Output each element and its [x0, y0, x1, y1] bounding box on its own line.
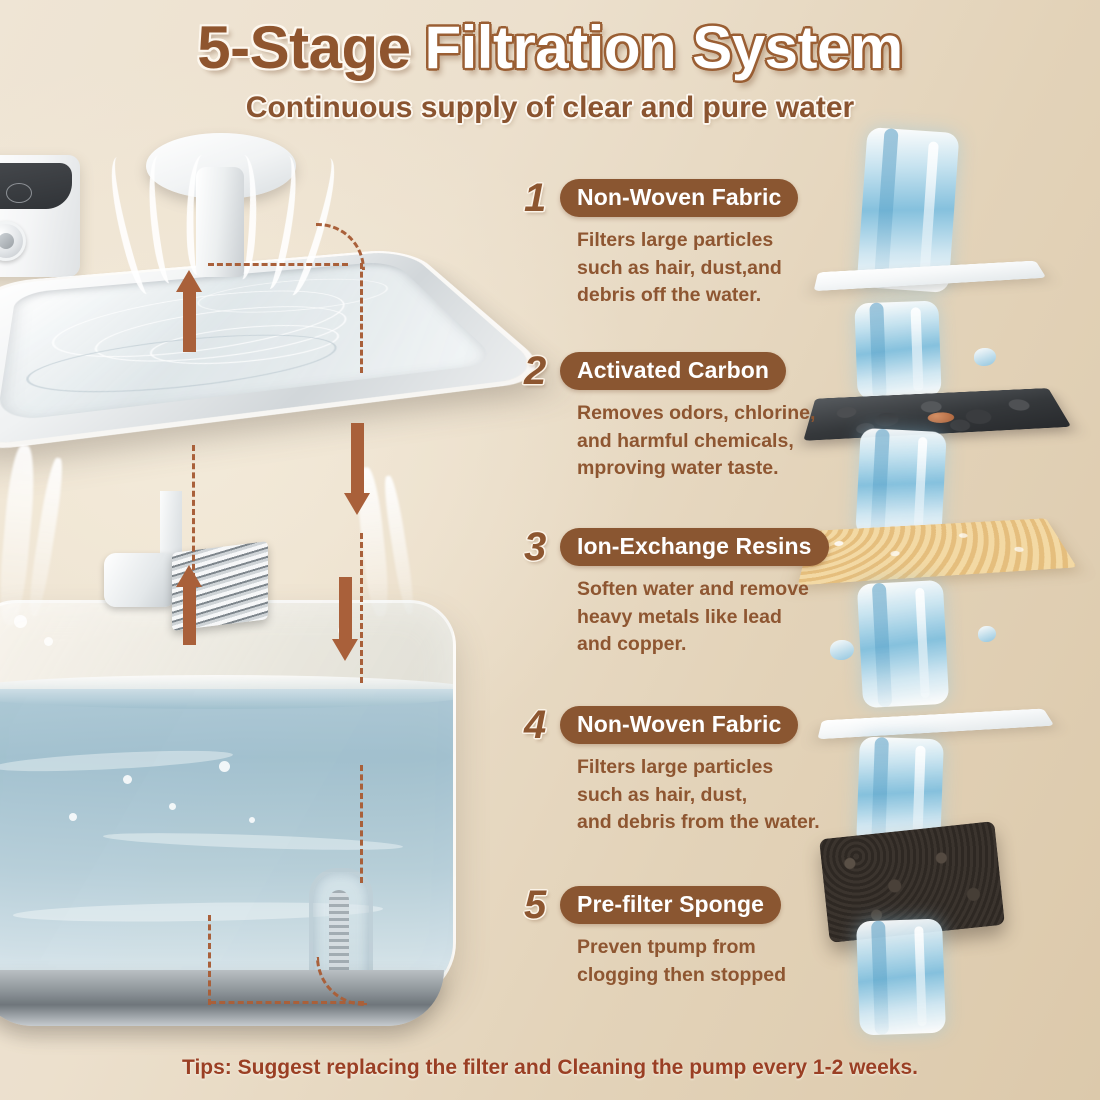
step-2-description: Removes odors, chlorine, and harmful che… [577, 400, 854, 483]
step-5-header: 5 Pre-filter Sponge [524, 885, 854, 925]
pump-motor [104, 553, 176, 607]
header: 5-StageFiltration System Continuous supp… [0, 16, 1100, 125]
step-1-line-1: Filters large particles [577, 227, 854, 255]
lower-water-tank [0, 600, 450, 1020]
arrow-head-icon [344, 493, 370, 515]
step-1-line-2: such as hair, dust,and [577, 255, 854, 283]
arrow-head-icon [332, 639, 358, 661]
step-2-number: 2 [524, 351, 560, 391]
control-module [0, 155, 80, 277]
step-4-line-2: such as hair, dust, [577, 782, 854, 810]
step-1-header: 1 Non-Woven Fabric [524, 178, 854, 218]
carbon-pellet [927, 412, 955, 424]
circulation-path-segment [210, 1001, 364, 1004]
arrow-head-icon [176, 270, 202, 292]
arrow-shaft [351, 423, 364, 493]
step-1[interactable]: 1 Non-Woven Fabric Filters large particl… [524, 178, 854, 310]
step-1-description: Filters large particles such as hair, du… [577, 227, 854, 310]
water-bubble [249, 817, 255, 823]
step-3[interactable]: 3 Ion-Exchange Resins Soften water and r… [524, 527, 854, 659]
title-part-filtration: Filtration System [424, 14, 902, 81]
water-stream [857, 580, 949, 708]
page-subtitle: Continuous supply of clear and pure wate… [0, 91, 1100, 125]
water-droplet [978, 626, 996, 642]
footer-tips: Tips: Suggest replacing the filter and C… [0, 1056, 1100, 1080]
water-stream [856, 919, 946, 1036]
step-5-description: Preven tpump from clogging then stopped [577, 934, 854, 989]
water-splash [14, 615, 27, 628]
step-4-line-1: Filters large particles [577, 754, 854, 782]
page-title: 5-StageFiltration System [0, 16, 1100, 79]
step-4-description: Filters large particles such as hair, du… [577, 754, 854, 837]
water-droplet [974, 348, 996, 366]
circulation-path-corner [316, 223, 365, 270]
step-2-header: 2 Activated Carbon [524, 351, 854, 391]
step-1-label-badge: Non-Woven Fabric [560, 179, 798, 217]
step-2-line-3: mproving water taste. [577, 455, 854, 483]
water-bubble [123, 775, 132, 784]
arrow-shaft [339, 577, 352, 639]
water-bubble [219, 761, 230, 772]
step-3-line-2: heavy metals like lead [577, 604, 854, 632]
tank-water-surface [0, 675, 456, 709]
water-bubble [69, 813, 77, 821]
product-illustration [0, 145, 526, 1045]
step-1-line-3: debris off the water. [577, 282, 854, 310]
step-4[interactable]: 4 Non-Woven Fabric Filters large particl… [524, 705, 854, 837]
circulation-path-segment [192, 445, 195, 643]
step-4-line-3: and debris from the water. [577, 809, 854, 837]
step-5[interactable]: 5 Pre-filter Sponge Preven tpump from cl… [524, 885, 854, 989]
step-2[interactable]: 2 Activated Carbon Removes odors, chlori… [524, 351, 854, 483]
infographic-page: 5-StageFiltration System Continuous supp… [0, 0, 1100, 1100]
water-splash [44, 637, 53, 646]
arrow-shaft [183, 292, 196, 352]
fountain-dome [104, 133, 334, 323]
water-stream [855, 428, 947, 540]
flow-arrow-down-filter [332, 577, 358, 661]
step-2-label-badge: Activated Carbon [560, 352, 786, 390]
step-4-header: 4 Non-Woven Fabric [524, 705, 854, 745]
control-indicator-icon [6, 183, 32, 203]
water-bubble [169, 803, 176, 810]
circulation-path-segment [360, 533, 363, 683]
step-3-label-badge: Ion-Exchange Resins [560, 528, 829, 566]
flow-arrow-up-pump [176, 565, 202, 645]
tank-metal-base [0, 970, 444, 1026]
step-3-line-3: and copper. [577, 631, 854, 659]
circulation-path-segment [208, 915, 211, 1005]
water-stream [854, 301, 941, 400]
step-4-label-badge: Non-Woven Fabric [560, 706, 798, 744]
flow-arrow-up-bowl [176, 270, 202, 352]
step-3-number: 3 [524, 527, 560, 567]
arrow-head-icon [176, 565, 202, 587]
power-button-icon [0, 221, 26, 261]
step-2-line-2: and harmful chemicals, [577, 428, 854, 456]
circulation-path-segment [360, 765, 363, 883]
circulation-path-segment [360, 263, 363, 373]
filter-layer-stack [828, 130, 1100, 1080]
step-4-number: 4 [524, 705, 560, 745]
step-1-number: 1 [524, 178, 560, 218]
step-2-line-1: Removes odors, chlorine, [577, 400, 854, 428]
pump-inlet-pipe [160, 491, 182, 561]
step-5-label-badge: Pre-filter Sponge [560, 886, 781, 924]
title-part-stage: 5-Stage [197, 14, 410, 81]
step-5-number: 5 [524, 885, 560, 925]
step-3-header: 3 Ion-Exchange Resins [524, 527, 854, 567]
step-5-line-2: clogging then stopped [577, 962, 854, 990]
step-5-line-1: Preven tpump from [577, 934, 854, 962]
flow-arrow-down-to-tank [344, 423, 370, 515]
step-3-line-1: Soften water and remove [577, 576, 854, 604]
control-display [0, 163, 72, 209]
step-3-description: Soften water and remove heavy metals lik… [577, 576, 854, 659]
